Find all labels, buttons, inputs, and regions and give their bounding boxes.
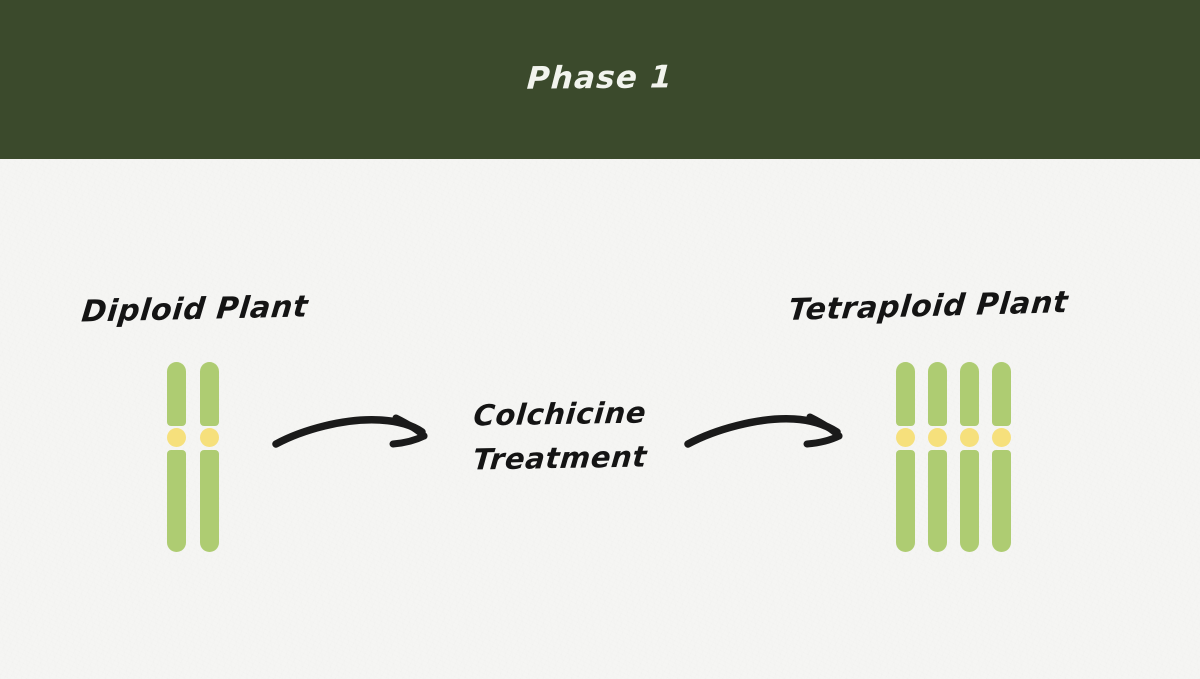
chromosome-arm-lower: [896, 450, 915, 552]
chromosome-arm-upper: [167, 362, 186, 426]
chromosome-right-3: [960, 362, 979, 552]
chromosome-right-2: [928, 362, 947, 552]
arrow-left-to-center-icon: [272, 392, 437, 456]
chromosome-arm-upper: [928, 362, 947, 426]
tetraploid-chromosome-group: [896, 362, 1011, 552]
diploid-chromosome-group: [167, 362, 222, 552]
colchicine-treatment-line-2: Treatment: [438, 434, 682, 482]
chromosome-arm-lower: [928, 450, 947, 552]
colchicine-treatment-line-1: Colchicine: [438, 390, 682, 438]
chromosome-arm-lower: [167, 450, 186, 552]
centromere-dot: [200, 428, 219, 447]
chromosome-left-2: [200, 362, 219, 552]
colchicine-treatment-label: Colchicine Treatment: [440, 392, 680, 480]
chromosome-arm-upper: [200, 362, 219, 426]
centromere-dot: [960, 428, 979, 447]
centromere-dot: [167, 428, 186, 447]
centromere-dot: [896, 428, 915, 447]
chromosome-arm-lower: [960, 450, 979, 552]
arrow-center-to-right-icon: [684, 392, 852, 456]
chromosome-arm-lower: [200, 450, 219, 552]
diploid-plant-label: Diploid Plant: [80, 289, 310, 329]
chromosome-arm-upper: [992, 362, 1011, 426]
centromere-dot: [928, 428, 947, 447]
chromosome-right-1: [896, 362, 915, 552]
chromosome-arm-lower: [992, 450, 1011, 552]
centromere-dot: [992, 428, 1011, 447]
chromosome-left-1: [167, 362, 186, 552]
chromosome-arm-upper: [896, 362, 915, 426]
chromosome-right-4: [992, 362, 1011, 552]
chromosome-arm-upper: [960, 362, 979, 426]
slide-canvas: Phase 1 Diploid Plant Colchicine Treatme…: [0, 0, 1200, 679]
tetraploid-plant-label: Tetraploid Plant: [787, 285, 1070, 328]
